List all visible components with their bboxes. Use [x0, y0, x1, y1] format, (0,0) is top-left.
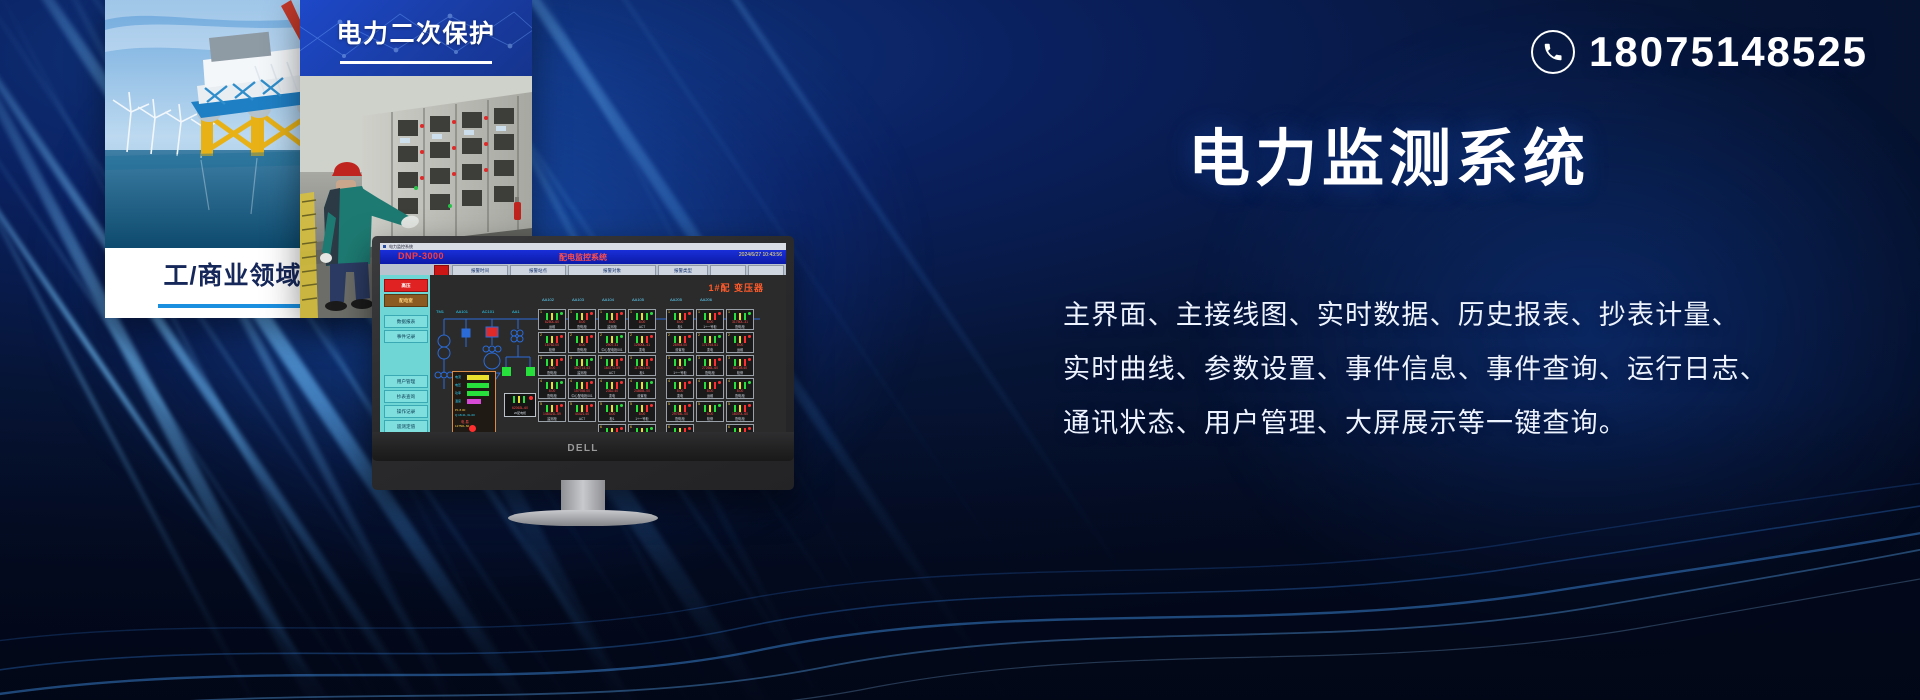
- cell-bars: [674, 382, 686, 389]
- scada-feeder-label: AA206: [700, 297, 712, 302]
- cell-label: ACT: [629, 325, 655, 329]
- scada-menu-4[interactable]: 用户管理: [384, 375, 428, 388]
- card-header-rule: [340, 61, 492, 64]
- cell-bars: [546, 359, 558, 366]
- cell-label: 运维: [697, 393, 723, 398]
- cell-bars: [576, 382, 588, 389]
- cell-index: 1: [540, 310, 542, 314]
- scada-menu-0[interactable]: 高压: [384, 279, 428, 292]
- scada-feeder-label: AA104: [602, 297, 614, 302]
- cell-label: 柜1: [667, 324, 693, 329]
- cell-bars: [636, 382, 648, 389]
- feature-description: 主界面、主接线图、实时数据、历史报表、抄表计量、 实时曲线、参数设置、事件信息、…: [1063, 288, 1863, 450]
- scada-menu-6[interactable]: 操作记录: [384, 405, 428, 418]
- cell-status-led: [748, 404, 751, 407]
- card-header-text: 电力二次保护: [300, 14, 532, 50]
- monitor-stand-neck: [561, 480, 605, 514]
- cell-label: 1+一号柜: [697, 324, 723, 329]
- cell-bars: [546, 405, 558, 412]
- cell-bars: [546, 382, 558, 389]
- scada-device-cell[interactable]: 58.00柜1: [598, 401, 626, 422]
- cell-label: 1+一号柜: [667, 370, 693, 375]
- card-caption-rule: [158, 304, 308, 308]
- scada-device-cell[interactable]: 18.001+一号柜: [696, 309, 724, 330]
- cell-label: 配电柜: [569, 347, 595, 352]
- scada-device-cell[interactable]: 42362.40变电: [598, 378, 626, 399]
- cell-bars: [704, 359, 716, 366]
- cell-status-led: [718, 381, 721, 384]
- monitor-screen[interactable]: 电力监控系统 DNP-3000 配电监控系统 2024/6/27 10:43:5…: [380, 243, 786, 461]
- cell-label: 设置柜: [667, 347, 693, 352]
- cell-label: 柜1: [599, 416, 625, 421]
- cell-status-led: [650, 312, 653, 315]
- scada-header-center: 配电监控系统: [380, 252, 786, 263]
- cell-label: 配电柜: [539, 370, 565, 375]
- cell-status-led: [688, 427, 691, 430]
- cell-status-led: [748, 335, 751, 338]
- cell-label: ACT: [599, 371, 625, 375]
- cell-label: 变电: [697, 347, 723, 352]
- scada-device-cell[interactable]: 228954.00设置柜: [666, 332, 694, 353]
- cell-status-led: [688, 358, 691, 361]
- cell-label: ACT: [569, 417, 595, 421]
- scada-device-cell[interactable]: 38.00配电柜: [538, 355, 566, 376]
- scada-device-cell[interactable]: 48.00变电: [666, 378, 694, 399]
- cell-bars: [576, 336, 588, 343]
- scada-device-cell[interactable]: 18.00ACT: [628, 309, 656, 330]
- cell-index: 4: [600, 379, 602, 383]
- scada-device-cell[interactable]: 4157936.00中心配电柜001: [568, 378, 596, 399]
- scada-feeder-label: AA105: [632, 297, 644, 302]
- cell-bars: [734, 313, 746, 320]
- cell-index: 5: [668, 402, 670, 406]
- cell-value: 44421.40: [569, 412, 595, 416]
- svg-text:AA101: AA101: [456, 309, 469, 314]
- cell-index: 6: [630, 425, 632, 429]
- monitor-bezel: 电力监控系统 DNP-3000 配电监控系统 2024/6/27 10:43:5…: [372, 236, 794, 490]
- cell-index: 4: [630, 379, 632, 383]
- scada-device-cell[interactable]: 327266L.60配电柜: [696, 355, 724, 376]
- scada-device-cell[interactable]: 2171764.51变电: [696, 332, 724, 353]
- cell-bars: [576, 359, 588, 366]
- scada-device-cell[interactable]: 48.00配电柜: [726, 378, 754, 399]
- scada-menu-5[interactable]: 抄表查询: [384, 390, 428, 403]
- cell-index: 5: [600, 402, 602, 406]
- scada-clock: 2024/6/27 10:43:56: [739, 252, 782, 258]
- cell-status-led: [620, 358, 623, 361]
- cell-status-led: [688, 335, 691, 338]
- scada-window-titlebar: 电力监控系统: [380, 243, 786, 250]
- cell-index: 3: [540, 356, 542, 360]
- cell-bars: [734, 336, 746, 343]
- cell-label: 配电柜: [667, 416, 693, 421]
- cell-bars: [704, 313, 716, 320]
- scada-device-cell[interactable]: 216762.00检修: [538, 332, 566, 353]
- cell-status-led: [748, 427, 751, 430]
- scada-device-cell[interactable]: 212500L.41变电: [628, 332, 656, 353]
- cell-index: 1: [630, 310, 632, 314]
- cell-bars: [546, 336, 558, 343]
- cell-status-led: [560, 358, 563, 361]
- cell-label: 配电柜: [697, 370, 723, 375]
- cell-status-led: [560, 381, 563, 384]
- cell-label: 配电柜: [539, 393, 565, 398]
- cell-index: 1: [600, 310, 602, 314]
- cell-status-led: [688, 404, 691, 407]
- cell-label: 变电: [629, 347, 655, 352]
- cell-index: 4: [668, 379, 670, 383]
- phone-number[interactable]: 18075148525: [1589, 28, 1868, 76]
- scada-device-cell[interactable]: 38.001+一号柜: [666, 355, 694, 376]
- cell-index: 1: [570, 310, 572, 314]
- cell-index: 2: [668, 333, 670, 337]
- cell-label: 检修: [697, 416, 723, 421]
- scada-device-cell[interactable]: 16280L.60运维: [538, 309, 566, 330]
- cell-index: 3: [698, 356, 700, 360]
- description-line-3: 通讯状态、用户管理、大屏展示等一键查询。: [1063, 396, 1863, 450]
- scada-device-cell[interactable]: 28.00运维: [726, 332, 754, 353]
- scada-device-cell[interactable]: 3117561.65柜1: [628, 355, 656, 376]
- scada-menu-1[interactable]: 配电室: [384, 294, 428, 307]
- cell-label: 中心配电柜001: [599, 347, 625, 352]
- cell-index: 3: [570, 356, 572, 360]
- cell-bars: [636, 313, 648, 320]
- cell-label: 监测柜: [539, 416, 565, 421]
- dell-monitor: 电力监控系统 DNP-3000 配电监控系统 2024/6/27 10:43:5…: [372, 236, 794, 526]
- cell-status-led: [688, 381, 691, 384]
- scada-device-cell[interactable]: 424865L.00设置柜: [628, 378, 656, 399]
- cell-bars: [734, 359, 746, 366]
- cell-status-led: [590, 358, 593, 361]
- cell-status-led: [688, 312, 691, 315]
- cell-label: 配电柜: [727, 324, 753, 329]
- cell-bars: [576, 405, 588, 412]
- cell-label: 监测柜: [599, 324, 625, 329]
- scada-device-cell[interactable]: 48.00运维: [696, 378, 724, 399]
- cell-bars: [704, 405, 716, 412]
- cell-status-led: [650, 335, 653, 338]
- cell-label: 配电柜: [569, 324, 595, 329]
- cell-bars: [636, 359, 648, 366]
- scada-device-cell[interactable]: 529754L.00配电柜: [666, 401, 694, 422]
- cell-index: 3: [728, 356, 730, 360]
- cell-status-led: [590, 335, 593, 338]
- cell-status-led: [718, 358, 721, 361]
- cell-label: 检修: [727, 370, 753, 375]
- page-title: 电力监测系统: [1188, 108, 1590, 198]
- cell-index: 4: [540, 379, 542, 383]
- scada-device-cell[interactable]: 3362714.43监测柜: [568, 355, 596, 376]
- cell-index: 3: [600, 356, 602, 360]
- cell-index: 2: [698, 333, 700, 337]
- cell-label: 检修: [539, 347, 565, 352]
- cell-bars: [606, 382, 618, 389]
- cell-status-led: [590, 381, 593, 384]
- scada-device-cell[interactable]: 384728.40检修: [726, 355, 754, 376]
- cell-index: 5: [570, 402, 572, 406]
- cell-label: 运维: [539, 324, 565, 329]
- scada-status-panel[interactable]: 电流 电压 功率 温度: [452, 371, 496, 435]
- cell-label: 配电柜: [727, 416, 753, 421]
- cell-label: 配电柜: [727, 393, 753, 398]
- cell-label: 变电: [599, 393, 625, 398]
- cell-status-led: [620, 335, 623, 338]
- cell-status-led: [560, 404, 563, 407]
- cell-label: 监测柜: [569, 370, 595, 375]
- scada-unit-box[interactable]: 62063L.60 20配电柜: [504, 393, 536, 417]
- cell-index: 5: [698, 402, 700, 406]
- cell-status-led: [620, 404, 623, 407]
- scada-device-cell[interactable]: 22907.31中心配电柜001: [598, 332, 626, 353]
- dell-logo: DELL: [567, 443, 598, 454]
- scada-device-cell[interactable]: 5148421L.59监测柜: [538, 401, 566, 422]
- cell-bars: [674, 336, 686, 343]
- cell-bars: [606, 313, 618, 320]
- cell-status-led: [650, 427, 653, 430]
- cell-label: 1+一号柜: [629, 416, 655, 421]
- cell-bars: [576, 313, 588, 320]
- scada-device-cell[interactable]: 18.00柜1: [666, 309, 694, 330]
- cell-index: 2: [570, 333, 572, 337]
- cell-index: 4: [698, 379, 700, 383]
- cell-status-led: [650, 381, 653, 384]
- cell-bars: [704, 382, 716, 389]
- cell-bars: [704, 336, 716, 343]
- cell-status-led: [650, 404, 653, 407]
- cell-index: 2: [630, 333, 632, 337]
- description-line-1: 主界面、主接线图、实时数据、历史报表、抄表计量、: [1063, 288, 1863, 342]
- cell-status-led: [560, 335, 563, 338]
- cell-index: 6: [668, 425, 670, 429]
- cell-status-led: [718, 312, 721, 315]
- scada-device-cell[interactable]: 48.00配电柜: [538, 378, 566, 399]
- cell-bars: [734, 382, 746, 389]
- window-icon: [383, 245, 386, 248]
- scada-tabbar[interactable]: 报警时间 报警站点 报警对象 报警类型: [380, 264, 786, 275]
- svg-text:AA1: AA1: [512, 309, 520, 314]
- cell-index: 2: [600, 333, 602, 337]
- cell-status-led: [718, 335, 721, 338]
- cell-index: 2: [540, 333, 542, 337]
- cell-bars: [606, 336, 618, 343]
- phone-icon: [1531, 30, 1575, 74]
- cell-status-led: [718, 404, 721, 407]
- cell-status-led: [620, 427, 623, 430]
- scada-feeder-label: AA205: [670, 297, 682, 302]
- cell-index: 5: [540, 402, 542, 406]
- svg-text:AC101: AC101: [482, 309, 495, 314]
- scada-device-cell[interactable]: 3164772.59ACT: [598, 355, 626, 376]
- cell-status-led: [748, 381, 751, 384]
- scada-device-cell[interactable]: 58.001+一号柜: [628, 401, 656, 422]
- cell-index: 1: [728, 310, 730, 314]
- scada-menu-2[interactable]: 数据报表: [384, 315, 428, 328]
- cell-value: 164772.59: [599, 366, 625, 370]
- cell-status-led: [560, 312, 563, 315]
- scada-device-cell[interactable]: 131750L.31配电柜: [726, 309, 754, 330]
- cell-bars: [546, 313, 558, 320]
- cell-bars: [674, 405, 686, 412]
- cell-bars: [636, 336, 648, 343]
- cell-label: 柜1: [629, 370, 655, 375]
- cell-status-led: [748, 312, 751, 315]
- scada-device-cell[interactable]: 544421.40ACT: [568, 401, 596, 422]
- card-header-protection: 电力二次保护: [300, 0, 532, 76]
- cell-bars: [606, 405, 618, 412]
- cell-status-led: [620, 312, 623, 315]
- scada-feeder-label: AA102: [542, 297, 554, 302]
- cell-label: 设置柜: [629, 393, 655, 398]
- cell-index: 4: [728, 379, 730, 383]
- scada-device-cell[interactable]: 28.00配电柜: [568, 332, 596, 353]
- cell-index: 5: [728, 402, 730, 406]
- window-title: 电力监控系统: [389, 243, 413, 250]
- cell-bars: [734, 405, 746, 412]
- description-line-2: 实时曲线、参数设置、事件信息、事件查询、运行日志、: [1063, 342, 1863, 396]
- cell-label: 运维: [727, 347, 753, 352]
- cell-bars: [674, 313, 686, 320]
- cell-index: 2: [728, 333, 730, 337]
- banner-stage: 工/商业领域 电力二次保护: [0, 0, 1920, 700]
- scada-device-cell[interactable]: 58.00检修: [696, 401, 724, 422]
- contact-phone[interactable]: 18075148525: [1531, 28, 1868, 76]
- cell-status-led: [590, 404, 593, 407]
- cell-index: 6: [728, 425, 730, 429]
- cell-bars: [674, 359, 686, 366]
- cell-index: 1: [698, 310, 700, 314]
- cell-index: 3: [668, 356, 670, 360]
- svg-text:TM1: TM1: [436, 309, 445, 314]
- cell-value: 8.00: [629, 320, 655, 324]
- cell-bars: [636, 405, 648, 412]
- scada-title-bar: DNP-3000 配电监控系统 2024/6/27 10:43:56: [380, 250, 786, 264]
- cell-label: 变电: [667, 393, 693, 398]
- scada-feeder-label: AA103: [572, 297, 584, 302]
- cell-status-led: [748, 358, 751, 361]
- cell-index: 5: [630, 402, 632, 406]
- cell-index: 3: [630, 356, 632, 360]
- scada-menu-3[interactable]: 事件记录: [384, 330, 428, 343]
- cell-label: 中心配电柜001: [569, 393, 595, 398]
- scada-device-cell[interactable]: 18.00监测柜: [598, 309, 626, 330]
- monitor-stand-base: [508, 510, 658, 526]
- scada-device-cell[interactable]: 18.00配电柜: [568, 309, 596, 330]
- scada-device-cell[interactable]: 516070L.60配电柜: [726, 401, 754, 422]
- cell-index: 1: [668, 310, 670, 314]
- cell-status-led: [650, 358, 653, 361]
- cell-index: 4: [570, 379, 572, 383]
- cell-bars: [606, 359, 618, 366]
- cell-index: 6: [600, 425, 602, 429]
- cell-status-led: [620, 381, 623, 384]
- cell-status-led: [590, 312, 593, 315]
